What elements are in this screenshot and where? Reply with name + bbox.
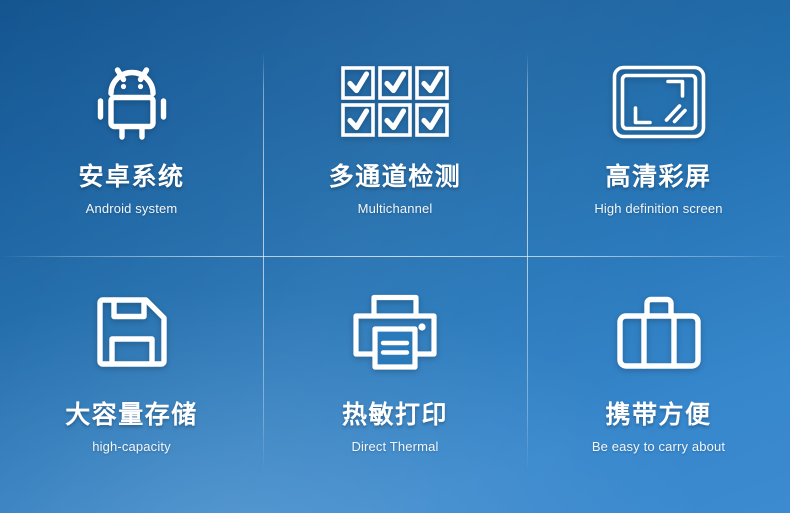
feature-panel: 安卓系统 Android system bbox=[0, 0, 790, 513]
feature-cell-high-capacity: 大容量存储 high-capacity bbox=[0, 256, 263, 513]
checkbox-grid-icon bbox=[341, 58, 449, 146]
feature-title-cn: 携带方便 bbox=[605, 402, 711, 430]
feature-title-cn: 安卓系统 bbox=[78, 164, 184, 192]
feature-cell-android-system: 安卓系统 Android system bbox=[0, 0, 263, 256]
screen-display-icon bbox=[612, 58, 706, 146]
feature-grid: 安卓系统 Android system bbox=[0, 0, 790, 513]
feature-title-cn: 热敏打印 bbox=[342, 402, 448, 430]
feature-title-en: Be easy to carry about bbox=[592, 439, 725, 455]
feature-title-en: High definition screen bbox=[594, 201, 722, 217]
feature-title-en: Direct Thermal bbox=[351, 439, 438, 455]
feature-cell-hd-screen: 高清彩屏 High definition screen bbox=[527, 0, 790, 256]
printer-icon bbox=[352, 284, 438, 380]
floppy-disk-save-icon bbox=[94, 284, 170, 380]
android-robot-icon bbox=[92, 58, 172, 146]
feature-title-en: high-capacity bbox=[92, 439, 171, 455]
feature-title-en: Android system bbox=[86, 201, 178, 217]
feature-cell-multichannel: 多通道检测 Multichannel bbox=[263, 0, 527, 256]
feature-cell-portable: 携带方便 Be easy to carry about bbox=[527, 256, 790, 513]
feature-title-en: Multichannel bbox=[358, 201, 433, 217]
feature-cell-direct-thermal: 热敏打印 Direct Thermal bbox=[263, 256, 527, 513]
briefcase-icon bbox=[616, 284, 702, 380]
feature-title-cn: 多通道检测 bbox=[329, 164, 462, 192]
feature-title-cn: 高清彩屏 bbox=[605, 164, 711, 192]
feature-title-cn: 大容量存储 bbox=[65, 402, 198, 430]
